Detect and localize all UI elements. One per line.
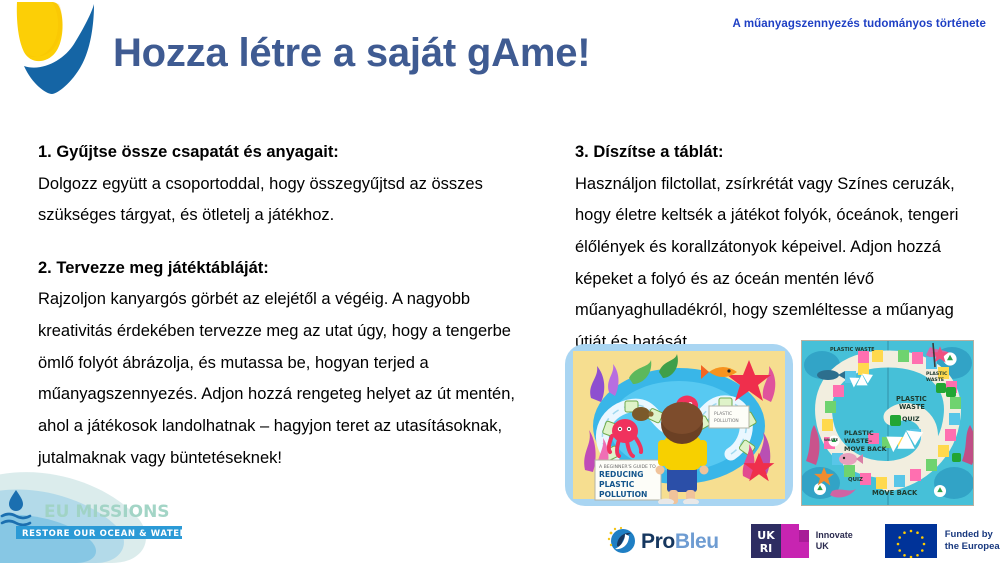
svg-text:MOVE BACK: MOVE BACK	[844, 445, 888, 453]
slide: Hozza létre a saját gAme! A műanyagszenn…	[0, 0, 1000, 563]
svg-text:PLASTIC: PLASTIC	[599, 480, 635, 489]
illustration-child-at-ocean-board-game: A BEGINNER'S GUIDE TO REDUCING PLASTIC P…	[563, 340, 795, 512]
ukri-innovate-uk-logo: UK RI Innovate UK	[751, 524, 853, 558]
photo-handmade-plastic-waste-board-game: PLASTIC WASTE PLASTIC WASTE PLASTIC WAST…	[801, 340, 974, 506]
eu-funding-logo: Funded by the European Union	[885, 524, 1000, 558]
eu-funding-line2: the European Union	[945, 541, 1000, 552]
eu-flag-icon	[885, 524, 937, 558]
svg-text:WASTE–: WASTE–	[844, 437, 872, 445]
svg-text:POLLUTION: POLLUTION	[599, 490, 647, 499]
probleu-word-pro: Pro	[641, 530, 675, 553]
step-1-block: 1. Gyűjtse össze csapatát és anyagait: D…	[38, 140, 518, 232]
step-2-block: 2. Tervezze meg játéktábláját: Rajzoljon…	[38, 256, 518, 475]
svg-text:REDUCING: REDUCING	[599, 470, 644, 479]
probleu-footer-logo: ProBleu	[607, 526, 719, 556]
eu-missions-logo: EU MISSIONS RESTORE OUR OCEAN & WATERS	[0, 470, 206, 563]
svg-text:WASTE: WASTE	[824, 438, 839, 442]
eu-missions-title: EU MISSIONS	[44, 502, 170, 522]
svg-text:UK: UK	[757, 529, 775, 542]
step-2-body: Rajzoljon kanyargós görbét az elejétől a…	[38, 284, 518, 474]
step-3-block: 3. Díszítse a táblát: Használjon filctol…	[575, 140, 980, 359]
step-1-heading: 1. Gyűjtse össze csapatát és anyagait:	[38, 140, 518, 166]
innovate-uk-line1: Innovate	[816, 530, 853, 540]
svg-text:POLLUTION: POLLUTION	[714, 418, 739, 424]
svg-text:PLASTIC: PLASTIC	[926, 371, 948, 377]
step-1-body: Dolgozz együtt a csoportoddal, hogy össz…	[38, 169, 518, 232]
ukri-mark-icon: UK RI	[751, 524, 809, 558]
eu-missions-banner: RESTORE OUR OCEAN & WATERS	[22, 529, 194, 539]
probleu-shield-logo	[6, 0, 104, 102]
step-2-heading: 2. Tervezze meg játéktábláját:	[38, 256, 518, 282]
page-title: Hozza létre a saját gAme!	[113, 31, 590, 75]
probleu-word-bleu: Bleu	[675, 530, 719, 553]
svg-text:QUIZ: QUIZ	[902, 415, 920, 423]
svg-text:RI: RI	[759, 542, 772, 555]
svg-text:WASTE: WASTE	[926, 377, 944, 383]
svg-text:PLASTIC: PLASTIC	[714, 411, 732, 417]
eu-funding-line1: Funded by	[945, 529, 993, 540]
left-column: 1. Gyűjtse össze csapatát és anyagait: D…	[38, 140, 518, 493]
svg-text:PLASTIC WASTE: PLASTIC WASTE	[830, 347, 875, 353]
probleu-mark-icon	[607, 526, 637, 556]
innovate-uk-line2: UK	[816, 541, 829, 551]
svg-text:MOVE BACK: MOVE BACK	[872, 489, 918, 497]
footer-logos: ProBleu UK RI Innovate UK	[607, 521, 1000, 561]
step-3-heading: 3. Díszítse a táblát:	[575, 140, 980, 166]
svg-text:PLASTIC: PLASTIC	[844, 429, 874, 437]
svg-text:PLASTIC: PLASTIC	[896, 395, 927, 403]
svg-text:QUIZ: QUIZ	[848, 477, 863, 483]
header-kicker: A műanyagszennyezés tudományos története	[733, 18, 986, 30]
step-3-body: Használjon filctollat, zsírkrétát vagy S…	[575, 169, 980, 359]
svg-text:WASTE: WASTE	[899, 403, 925, 411]
